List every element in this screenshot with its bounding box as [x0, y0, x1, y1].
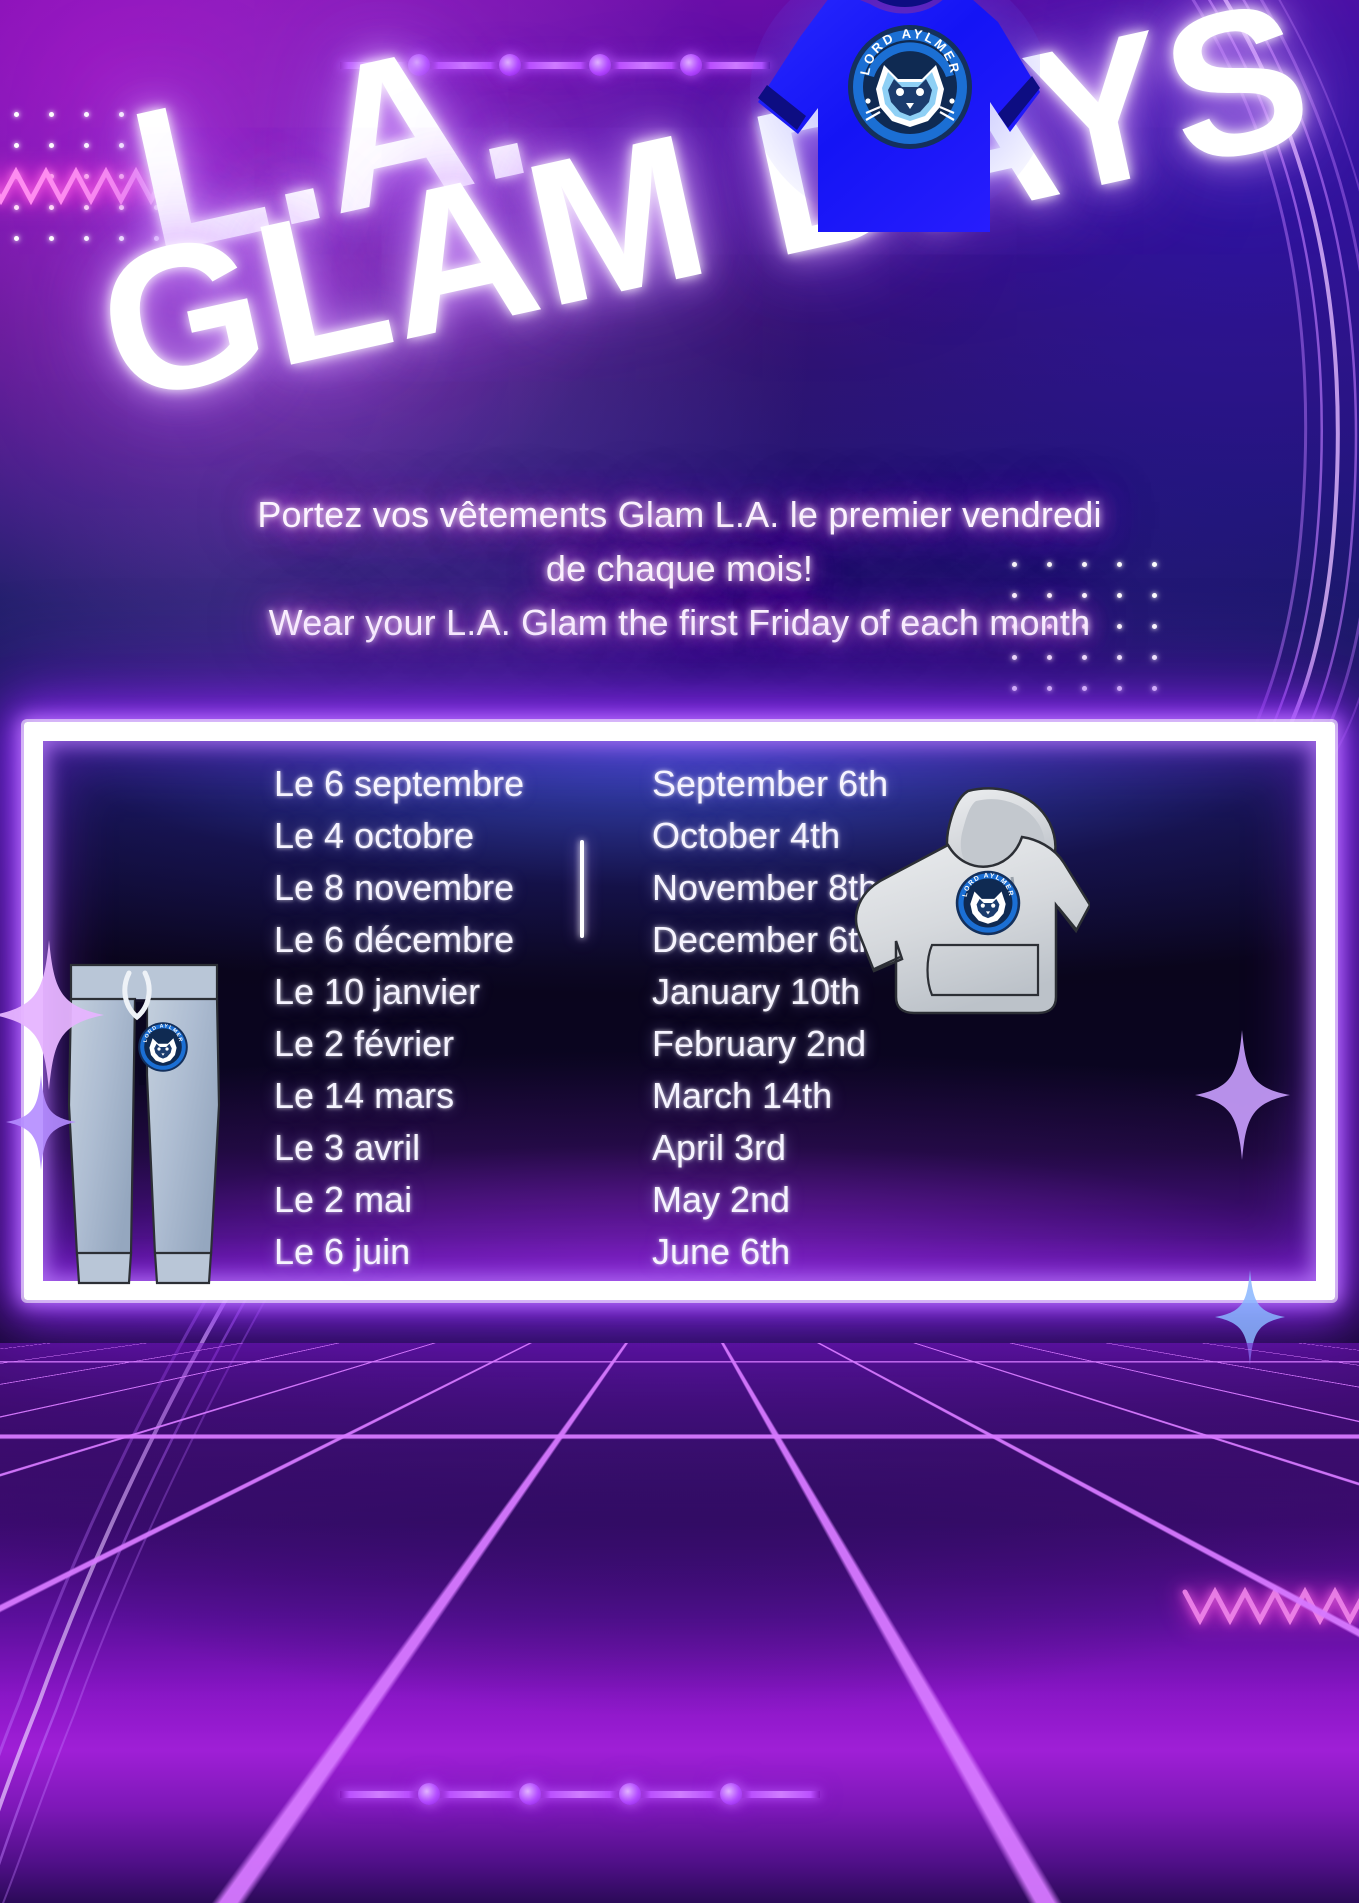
subtitle-fr-line2: de chaque mois! — [0, 542, 1359, 596]
connector-bar — [641, 1791, 719, 1798]
dates-table: Le 6 septembreSeptember 6thLe 4 octobreO… — [274, 758, 888, 1278]
subtitle-fr-line1: Portez vos vêtements Glam L.A. le premie… — [0, 488, 1359, 542]
connector-node — [408, 54, 430, 76]
connector-node — [418, 1783, 440, 1805]
zigzag-top-left — [0, 160, 166, 210]
date-row-fr: Le 6 décembre — [274, 914, 574, 966]
connector-bar — [541, 1791, 619, 1798]
sweatpants-graphic: LORD AYLMER — [55, 955, 235, 1300]
date-row-fr: Le 2 février — [274, 1018, 574, 1070]
date-row-fr: Le 3 avril — [274, 1122, 574, 1174]
connector-bar — [340, 62, 408, 69]
connector-bar — [430, 62, 498, 69]
connector-bar — [742, 1791, 820, 1798]
subtitle-en-line: Wear your L.A. Glam the first Friday of … — [0, 596, 1359, 650]
connector-node — [499, 54, 521, 76]
date-row-en: May 2nd — [652, 1174, 888, 1226]
date-row-fr: Le 10 janvier — [274, 966, 574, 1018]
column-divider — [580, 840, 584, 938]
grid-haze — [0, 1343, 1359, 1903]
connector-bar — [340, 1791, 418, 1798]
date-row-en: February 2nd — [652, 1018, 888, 1070]
title-line-1: L.A. — [118, 9, 545, 279]
neon-floor-grid — [0, 1343, 1359, 1903]
connector-bar — [611, 62, 679, 69]
connector-bar — [521, 62, 589, 69]
date-row-fr: Le 6 septembre — [274, 758, 574, 810]
connector-node — [720, 1783, 742, 1805]
date-row-fr: Le 2 mai — [274, 1174, 574, 1226]
poster-canvas: L.A. GLAM DAYS — [0, 0, 1359, 1903]
connector-node — [519, 1783, 541, 1805]
date-row-fr: Le 14 mars — [274, 1070, 574, 1122]
connector-node — [680, 54, 702, 76]
hoodie-graphic: LORD AYLMER — [840, 785, 1090, 1025]
date-row-fr: Le 6 juin — [274, 1226, 574, 1278]
date-row-en: March 14th — [652, 1070, 888, 1122]
tshirt-graphic: LORD AYLMER — [740, 0, 1040, 232]
dot-connector-line-top — [340, 53, 770, 77]
date-row-fr: Le 4 octobre — [274, 810, 574, 862]
subtitle-block: Portez vos vêtements Glam L.A. le premie… — [0, 488, 1359, 649]
connector-bar — [440, 1791, 518, 1798]
date-row-en: April 3rd — [652, 1122, 888, 1174]
date-row-fr: Le 8 novembre — [274, 862, 574, 914]
title-line-2: GLAM DAYS — [84, 0, 1325, 427]
zigzag-bottom-right — [1185, 1580, 1359, 1630]
dot-connector-line-bottom — [340, 1782, 820, 1806]
dot-grid-top-left — [14, 112, 159, 237]
connector-node — [589, 54, 611, 76]
date-row-en: June 6th — [652, 1226, 888, 1278]
connector-node — [619, 1783, 641, 1805]
